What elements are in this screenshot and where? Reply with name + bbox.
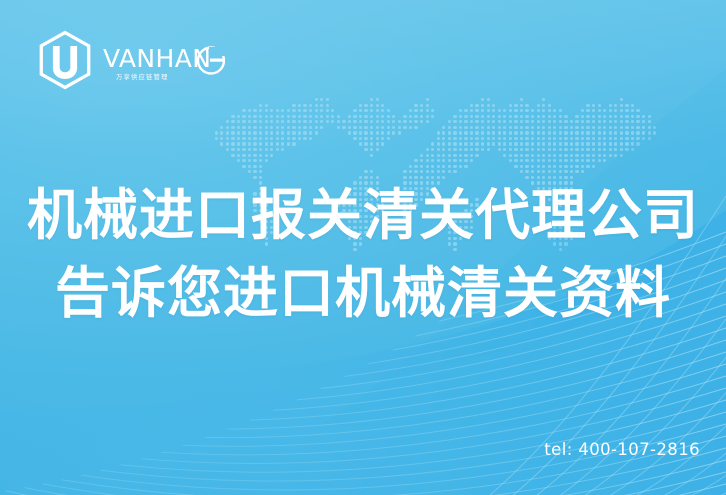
map-dot [592, 154, 595, 157]
map-dot [570, 170, 573, 173]
map-dot [276, 115, 279, 118]
map-dot [575, 137, 578, 140]
map-dot [575, 159, 578, 162]
map-dot [215, 137, 218, 140]
map-dot [281, 137, 284, 140]
map-dot [292, 126, 295, 129]
map-dot [292, 104, 295, 107]
map-dot [537, 170, 540, 173]
map-dot [498, 126, 501, 129]
map-dot [248, 170, 251, 173]
map-dot [276, 131, 279, 134]
map-dot [381, 131, 384, 134]
map-dot [636, 142, 639, 145]
map-dot [575, 126, 578, 129]
map-dot [464, 148, 467, 151]
map-dot [581, 126, 584, 129]
map-dot [514, 137, 517, 140]
map-dot [636, 115, 639, 118]
map-dot [542, 120, 545, 123]
map-dot [381, 120, 384, 123]
map-dot [631, 109, 634, 112]
map-dot [253, 148, 256, 151]
map-dot [370, 126, 373, 129]
map-dot [453, 115, 456, 118]
map-dot [309, 104, 312, 107]
map-dot [625, 126, 628, 129]
map-dot [231, 115, 234, 118]
map-dot [376, 98, 379, 101]
map-dot [614, 148, 617, 151]
map-dot [248, 165, 251, 168]
map-dot [470, 142, 473, 145]
map-dot [586, 115, 589, 118]
map-dot [525, 104, 528, 107]
map-dot [364, 109, 367, 112]
map-dot [259, 104, 262, 107]
map-dot [226, 142, 229, 145]
map-dot [431, 109, 434, 112]
map-dot [498, 115, 501, 118]
map-dot [231, 120, 234, 123]
map-dot [525, 137, 528, 140]
map-dot [253, 120, 256, 123]
map-dot [426, 109, 429, 112]
map-dot [603, 154, 606, 157]
map-dot [315, 126, 318, 129]
map-dot [259, 131, 262, 134]
map-dot [470, 104, 473, 107]
map-dot [553, 120, 556, 123]
contact-phone[interactable]: tel: 400-107-2816 [544, 440, 700, 459]
map-dot [520, 98, 523, 101]
map-dot [548, 131, 551, 134]
map-dot [581, 170, 584, 173]
map-dot [353, 137, 356, 140]
map-dot [631, 126, 634, 129]
map-dot [442, 148, 445, 151]
map-dot [653, 131, 656, 134]
map-dot [575, 148, 578, 151]
map-dot [548, 120, 551, 123]
map-dot [548, 148, 551, 151]
map-dot [276, 109, 279, 112]
map-dot [564, 165, 567, 168]
map-dot [553, 148, 556, 151]
map-dot [586, 109, 589, 112]
map-dot [281, 120, 284, 123]
map-dot [464, 109, 467, 112]
map-dot [592, 148, 595, 151]
map-dot [437, 159, 440, 162]
map-dot [403, 120, 406, 123]
map-dot [525, 120, 528, 123]
map-dot [503, 148, 506, 151]
map-dot [420, 115, 423, 118]
map-dot [303, 115, 306, 118]
map-dot [287, 142, 290, 145]
map-dot [525, 154, 528, 157]
map-dot [537, 131, 540, 134]
map-dot [470, 109, 473, 112]
map-dot [420, 154, 423, 157]
map-dot [542, 165, 545, 168]
map-dot [265, 137, 268, 140]
map-dot [326, 104, 329, 107]
map-dot [470, 154, 473, 157]
map-dot [598, 131, 601, 134]
promo-banner: VANHAN 万享供应链管理 机械进口报关清关代理公司 告诉您进口机械清关资料 … [0, 0, 726, 495]
map-dot [287, 131, 290, 134]
map-dot [592, 109, 595, 112]
map-dot [426, 104, 429, 107]
map-dot [598, 148, 601, 151]
map-dot [259, 165, 262, 168]
map-dot [453, 142, 456, 145]
map-dot [537, 109, 540, 112]
map-dot [431, 165, 434, 168]
map-dot [370, 98, 373, 101]
map-dot [542, 104, 545, 107]
map-dot [259, 142, 262, 145]
map-dot [381, 104, 384, 107]
map-dot [265, 131, 268, 134]
map-dot [481, 137, 484, 140]
map-dot [592, 126, 595, 129]
map-dot [270, 142, 273, 145]
map-dot [292, 137, 295, 140]
map-dot [642, 115, 645, 118]
map-dot [548, 126, 551, 129]
map-dot [581, 120, 584, 123]
map-dot [320, 104, 323, 107]
map-dot [525, 126, 528, 129]
map-dot [542, 154, 545, 157]
map-dot [609, 120, 612, 123]
map-dot [464, 142, 467, 145]
map-dot [470, 159, 473, 162]
map-dot [470, 120, 473, 123]
map-dot [376, 109, 379, 112]
map-dot [598, 154, 601, 157]
map-dot [370, 115, 373, 118]
map-dot [420, 165, 423, 168]
map-dot [253, 131, 256, 134]
map-dot [542, 170, 545, 173]
map-dot [542, 142, 545, 145]
map-dot [625, 104, 628, 107]
map-dot [520, 104, 523, 107]
map-dot [487, 148, 490, 151]
logo-wordmark-block: VANHAN 万享供应链管理 [103, 30, 225, 90]
map-dot [525, 148, 528, 151]
map-dot [525, 131, 528, 134]
map-dot [226, 126, 229, 129]
map-dot [359, 104, 362, 107]
map-dot [520, 170, 523, 173]
map-dot [381, 142, 384, 145]
map-dot [265, 148, 268, 151]
map-dot [636, 137, 639, 140]
map-dot [259, 170, 262, 173]
map-dot [537, 142, 540, 145]
map-dot [481, 142, 484, 145]
map-dot [398, 131, 401, 134]
map-dot [614, 115, 617, 118]
map-dot [231, 137, 234, 140]
map-dot [514, 115, 517, 118]
map-dot [265, 142, 268, 145]
map-dot [548, 109, 551, 112]
map-dot [431, 148, 434, 151]
map-dot [531, 142, 534, 145]
map-dot [426, 170, 429, 173]
map-dot [381, 126, 384, 129]
map-dot [553, 109, 556, 112]
map-dot [609, 126, 612, 129]
map-dot [553, 142, 556, 145]
map-dot [531, 115, 534, 118]
map-dot [642, 126, 645, 129]
map-dot [453, 131, 456, 134]
map-dot [359, 120, 362, 123]
map-dot [636, 131, 639, 134]
map-dot [259, 115, 262, 118]
brand-logo[interactable]: VANHAN 万享供应链管理 [36, 29, 226, 91]
map-dot [631, 104, 634, 107]
map-dot [376, 115, 379, 118]
map-dot [520, 137, 523, 140]
map-dot [614, 142, 617, 145]
map-dot [459, 154, 462, 157]
map-dot [409, 165, 412, 168]
map-dot [370, 120, 373, 123]
map-dot [353, 131, 356, 134]
map-dot [492, 137, 495, 140]
map-dot [303, 131, 306, 134]
map-dot [309, 109, 312, 112]
map-dot [215, 131, 218, 134]
map-dot [653, 126, 656, 129]
map-dot [620, 131, 623, 134]
map-dot [586, 154, 589, 157]
map-dot [570, 131, 573, 134]
map-dot [648, 131, 651, 134]
map-dot [520, 109, 523, 112]
map-dot [437, 154, 440, 157]
map-dot [326, 98, 329, 101]
map-dot [226, 148, 229, 151]
headline-line-1: 机械进口报关清关代理公司 [0, 176, 726, 254]
map-dot [364, 115, 367, 118]
map-dot [509, 148, 512, 151]
map-dot [348, 115, 351, 118]
map-dot [403, 126, 406, 129]
map-dot [603, 115, 606, 118]
map-dot [564, 120, 567, 123]
map-dot [426, 120, 429, 123]
map-dot [248, 137, 251, 140]
map-dot [420, 170, 423, 173]
map-dot [559, 142, 562, 145]
map-dot [475, 126, 478, 129]
map-dot [376, 104, 379, 107]
map-dot [648, 126, 651, 129]
map-dot [514, 154, 517, 157]
map-dot [614, 154, 617, 157]
map-dot [586, 126, 589, 129]
map-dot [270, 131, 273, 134]
map-dot [370, 137, 373, 140]
map-dot [492, 142, 495, 145]
map-dot [409, 109, 412, 112]
map-dot [337, 115, 340, 118]
map-dot [237, 115, 240, 118]
map-dot [559, 170, 562, 173]
map-dot [481, 115, 484, 118]
map-dot [326, 120, 329, 123]
map-dot [553, 170, 556, 173]
map-dot [281, 115, 284, 118]
map-dot [376, 126, 379, 129]
map-dot [598, 142, 601, 145]
map-dot [270, 126, 273, 129]
map-dot [281, 126, 284, 129]
map-dot [503, 109, 506, 112]
map-dot [331, 120, 334, 123]
map-dot [542, 115, 545, 118]
map-dot [448, 126, 451, 129]
map-dot [453, 148, 456, 151]
map-dot [320, 126, 323, 129]
map-dot [631, 148, 634, 151]
map-dot [237, 126, 240, 129]
map-dot [448, 165, 451, 168]
map-dot [609, 148, 612, 151]
map-dot [464, 126, 467, 129]
map-dot [459, 165, 462, 168]
map-dot [309, 120, 312, 123]
map-dot [498, 148, 501, 151]
map-dot [514, 120, 517, 123]
map-dot [559, 115, 562, 118]
map-dot [364, 148, 367, 151]
map-dot [364, 126, 367, 129]
headline-block: 机械进口报关清关代理公司 告诉您进口机械清关资料 [0, 176, 726, 332]
map-dot [509, 104, 512, 107]
map-dot [620, 104, 623, 107]
map-dot [592, 115, 595, 118]
map-dot [537, 165, 540, 168]
map-dot [409, 115, 412, 118]
map-dot [609, 142, 612, 145]
map-dot [559, 148, 562, 151]
map-dot [592, 165, 595, 168]
map-dot [603, 120, 606, 123]
map-dot [514, 148, 517, 151]
map-dot [503, 142, 506, 145]
map-dot [459, 142, 462, 145]
map-dot [320, 115, 323, 118]
map-dot [470, 148, 473, 151]
map-dot [609, 109, 612, 112]
map-dot [564, 159, 567, 162]
map-dot [492, 120, 495, 123]
map-dot [431, 170, 434, 173]
map-dot [598, 126, 601, 129]
map-dot [603, 131, 606, 134]
map-dot [259, 137, 262, 140]
map-dot [581, 142, 584, 145]
map-dot [542, 148, 545, 151]
map-dot [259, 159, 262, 162]
map-dot [287, 115, 290, 118]
map-dot [242, 159, 245, 162]
map-dot [281, 131, 284, 134]
map-dot [414, 170, 417, 173]
map-dot [625, 148, 628, 151]
map-dot [631, 131, 634, 134]
map-dot [453, 120, 456, 123]
map-dot [559, 165, 562, 168]
map-dot [625, 131, 628, 134]
map-dot [237, 154, 240, 157]
map-dot [281, 142, 284, 145]
map-dot [270, 148, 273, 151]
map-dot [226, 131, 229, 134]
map-dot [564, 115, 567, 118]
map-dot [564, 170, 567, 173]
map-dot [542, 109, 545, 112]
map-dot [237, 142, 240, 145]
map-dot [509, 120, 512, 123]
map-dot [403, 115, 406, 118]
map-dot [553, 165, 556, 168]
map-dot [520, 115, 523, 118]
map-dot [248, 120, 251, 123]
map-dot [437, 170, 440, 173]
map-dot [603, 142, 606, 145]
map-dot [364, 137, 367, 140]
map-dot [298, 115, 301, 118]
map-dot [303, 120, 306, 123]
map-dot [353, 109, 356, 112]
map-dot [220, 137, 223, 140]
map-dot [575, 165, 578, 168]
map-dot [487, 98, 490, 101]
map-dot [231, 131, 234, 134]
map-dot [237, 120, 240, 123]
map-dot [442, 154, 445, 157]
map-dot [503, 131, 506, 134]
map-dot [442, 131, 445, 134]
map-dot [237, 131, 240, 134]
map-dot [381, 137, 384, 140]
map-dot [242, 109, 245, 112]
map-dot [276, 120, 279, 123]
map-dot [631, 137, 634, 140]
map-dot [559, 159, 562, 162]
map-dot [453, 154, 456, 157]
map-dot [625, 109, 628, 112]
map-dot [598, 115, 601, 118]
map-dot [609, 154, 612, 157]
map-dot [475, 148, 478, 151]
map-dot [448, 120, 451, 123]
map-dot [448, 131, 451, 134]
map-dot [265, 104, 268, 107]
map-dot [586, 148, 589, 151]
